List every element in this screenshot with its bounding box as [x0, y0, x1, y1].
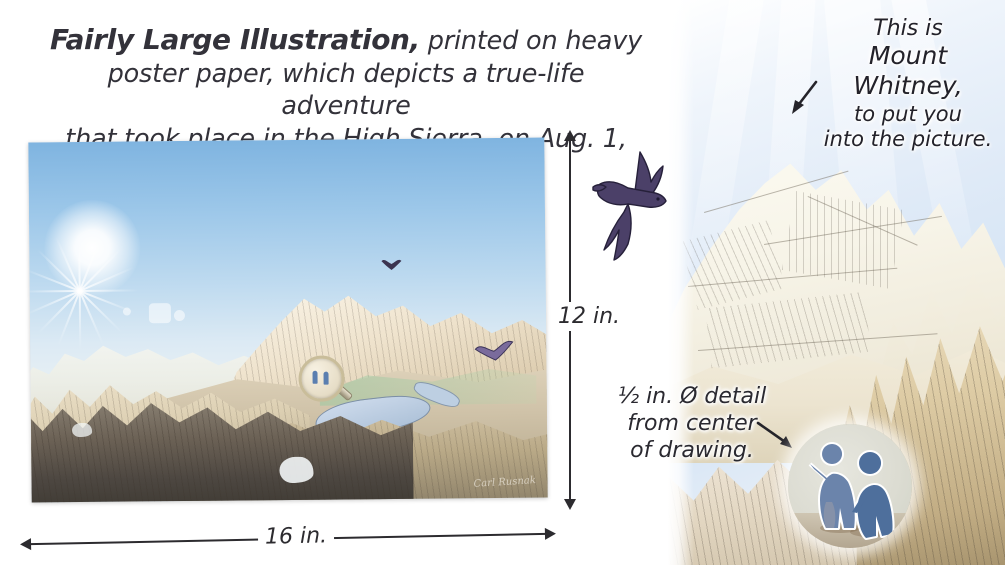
detail-note-line1: ½ in. Ø detail [618, 384, 767, 409]
whitney-note-line3: to put you [818, 102, 998, 127]
height-dimension-label: 12 in. [552, 302, 626, 331]
detail-note-line3: of drawing. [630, 438, 754, 463]
left-white-panel: Fairly Large Illustration, printed on he… [0, 0, 672, 565]
tiny-figure [324, 372, 329, 385]
magnifier-icon[interactable] [299, 355, 345, 401]
caption-lead: Fairly Large Illustration, [50, 23, 420, 56]
arrow-down-icon [564, 499, 576, 510]
small-flying-bird-icon [380, 258, 402, 275]
panel-fade-edge [668, 0, 694, 565]
arrow-right-icon [545, 528, 556, 540]
width-dimension-label: 16 in. [258, 521, 335, 552]
snow-patch [279, 457, 313, 483]
illustration-photo[interactable]: Carl Rusnak [28, 138, 547, 503]
magnifier-lens [299, 355, 345, 401]
tiny-figure [313, 371, 318, 384]
arrow-down-left-icon [784, 78, 824, 122]
mount-whitney-note: This is Mount Whitney, to put you into t… [818, 16, 998, 152]
detail-circle-inset[interactable] [788, 424, 912, 548]
caption-line1-rest: printed on heavy [420, 26, 642, 56]
arrow-left-icon [20, 538, 31, 550]
lens-flare-dot [123, 307, 131, 315]
flying-bird-icon [588, 146, 670, 262]
screenshot-root: Fairly Large Illustration, printed on he… [0, 0, 1005, 565]
illustration-canvas: Carl Rusnak [28, 138, 547, 503]
snow-patch [72, 423, 92, 437]
lens-flare-poly [149, 303, 171, 323]
caption-line2: poster paper, which depicts a true-life … [108, 59, 585, 122]
whitney-note-line4: into the picture. [818, 127, 998, 152]
whitney-note-line1: This is [818, 16, 998, 42]
two-hikers-figures [788, 424, 912, 548]
detail-note-line2: from center [627, 411, 756, 436]
arrow-up-icon [564, 130, 576, 141]
whitney-note-line2: Mount Whitney, [818, 41, 998, 101]
